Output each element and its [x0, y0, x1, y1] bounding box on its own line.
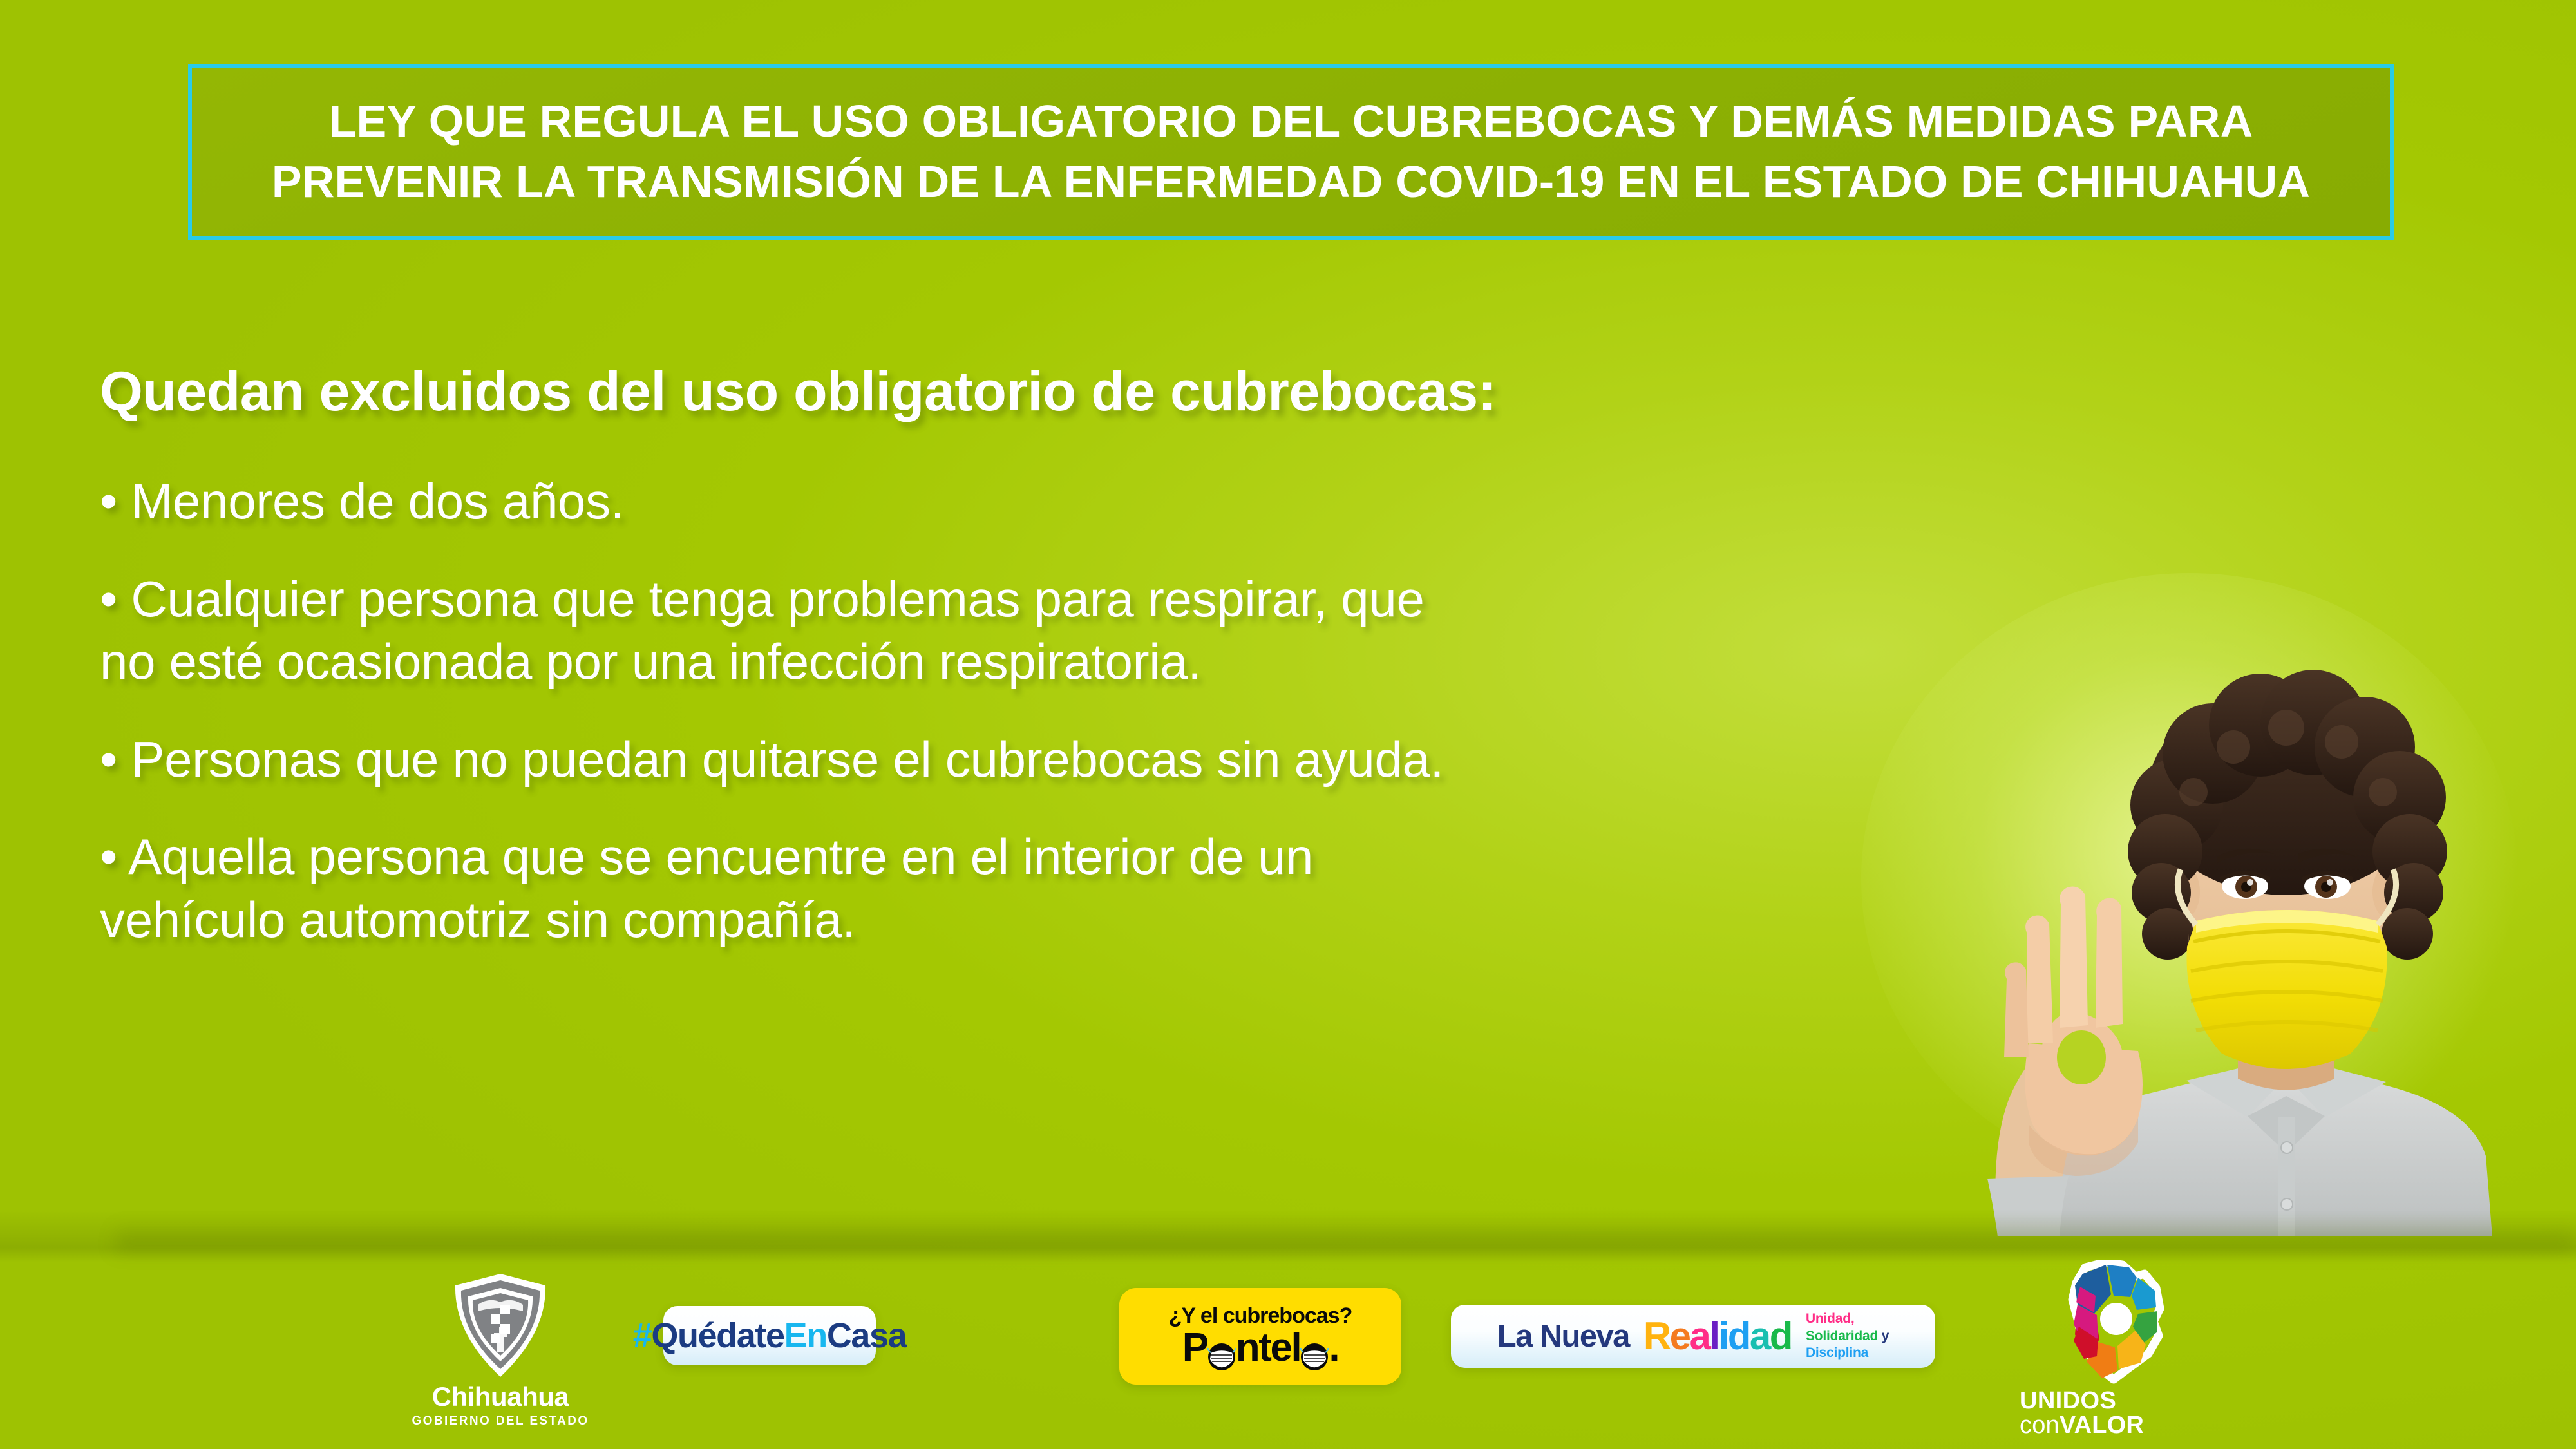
- realidad-letter-0: R: [1643, 1317, 1670, 1356]
- casa-word: Casa: [827, 1316, 907, 1355]
- realidad-letter-5: d: [1728, 1317, 1750, 1356]
- logo-subtitle: GOBIERNO DEL ESTADO: [394, 1415, 607, 1427]
- bullet-line: no esté ocasionada por una infección res…: [100, 630, 1903, 694]
- masked-man-photo: [1835, 535, 2576, 1236]
- poster-canvas: LEY QUE REGULA EL USO OBLIGATORIO DEL CU…: [0, 0, 2576, 1449]
- pontelo-wordmark: P ntel: [1182, 1328, 1338, 1368]
- tagline-disciplina: Disciplina: [1806, 1345, 1868, 1360]
- bullet-line: vehículo automotriz sin compañía.: [100, 889, 1903, 952]
- list-item: • Personas que no puedan quitarse el cub…: [100, 728, 1903, 791]
- mask-icon: [1206, 1338, 1237, 1367]
- realidad-letter-7: d: [1770, 1317, 1792, 1356]
- bullet-line: • Aquella persona que se encuentre en el…: [100, 826, 1903, 889]
- en-word: En: [784, 1316, 827, 1355]
- realidad-letter-1: e: [1670, 1317, 1690, 1356]
- list-item: • Aquella persona que se encuentre en el…: [100, 826, 1903, 951]
- pontelo-mid: ntel: [1236, 1328, 1301, 1368]
- page-title: LEY QUE REGULA EL USO OBLIGATORIO DEL CU…: [272, 91, 2310, 213]
- realidad-letter-3: l: [1709, 1317, 1718, 1356]
- quedate-en-casa-badge: #QuédateEnCasa: [663, 1306, 876, 1365]
- tagline-y: y: [1878, 1329, 1889, 1343]
- valor-word: VALOR: [2060, 1412, 2144, 1439]
- nueva-realidad-badge: La Nueva Realidad Unidad, Solidaridad y …: [1451, 1305, 1935, 1368]
- bullet-line: • Cualquier persona que tenga problemas …: [100, 568, 1903, 631]
- realidad-letter-6: a: [1750, 1317, 1770, 1356]
- realidad-letter-2: a: [1690, 1317, 1710, 1356]
- pontelo-question: ¿Y el cubrebocas?: [1169, 1305, 1352, 1327]
- bullet-line: • Menores de dos años.: [100, 470, 1903, 533]
- tagline-solidaridad: Solidaridad: [1806, 1329, 1878, 1343]
- la-nueva-text: La Nueva: [1497, 1321, 1629, 1352]
- realidad-tagline: Unidad, Solidaridad y Disciplina: [1806, 1311, 1889, 1363]
- list-item: • Menores de dos años.: [100, 470, 1903, 533]
- unidos-text: UNIDOS conVALOR: [2014, 1388, 2227, 1439]
- pontelo-dot: .: [1329, 1328, 1338, 1368]
- unidos-line2: conVALOR: [2020, 1413, 2227, 1439]
- chihuahua-map-icon: [2014, 1260, 2227, 1386]
- unidos-con-valor-logo: UNIDOS conVALOR: [2014, 1260, 2227, 1439]
- tagline-unidad: Unidad,: [1806, 1311, 1855, 1326]
- quedate-text: #QuédateEnCasa: [633, 1318, 907, 1353]
- realidad-wordmark: Realidad: [1643, 1317, 1792, 1356]
- lead-heading: Quedan excluidos del uso obligatorio de …: [100, 361, 1935, 422]
- pontelo-p: P: [1182, 1328, 1207, 1368]
- list-item: • Cualquier persona que tenga problemas …: [100, 568, 1903, 694]
- bullet-line: • Personas que no puedan quitarse el cub…: [100, 728, 1903, 791]
- logo-name: Chihuahua: [394, 1383, 607, 1410]
- quedate-word: Quédate: [651, 1316, 784, 1355]
- title-line-2: PREVENIR LA TRANSMISIÓN DE LA ENFERMEDAD…: [272, 152, 2310, 213]
- title-line-1: LEY QUE REGULA EL USO OBLIGATORIO DEL CU…: [272, 91, 2310, 152]
- state-seal-icon: [394, 1269, 607, 1379]
- con-word: con: [2020, 1412, 2060, 1439]
- realidad-letter-4: i: [1719, 1317, 1728, 1356]
- pontelo-badge: ¿Y el cubrebocas? P ntel: [1119, 1288, 1401, 1385]
- mask-icon: [1299, 1338, 1330, 1367]
- hash-symbol: #: [633, 1316, 652, 1355]
- man-illustration: [1835, 535, 2576, 1236]
- realidad-row: La Nueva Realidad Unidad, Solidaridad y …: [1481, 1311, 1906, 1363]
- chihuahua-government-logo: Chihuahua GOBIERNO DEL ESTADO: [394, 1269, 607, 1427]
- main-content: Quedan excluidos del uso obligatorio de …: [100, 361, 1935, 951]
- footer-logos: Chihuahua GOBIERNO DEL ESTADO #QuédateEn…: [0, 1262, 2576, 1449]
- title-banner: LEY QUE REGULA EL USO OBLIGATORIO DEL CU…: [188, 64, 2394, 240]
- unidos-line1: UNIDOS: [2020, 1388, 2227, 1413]
